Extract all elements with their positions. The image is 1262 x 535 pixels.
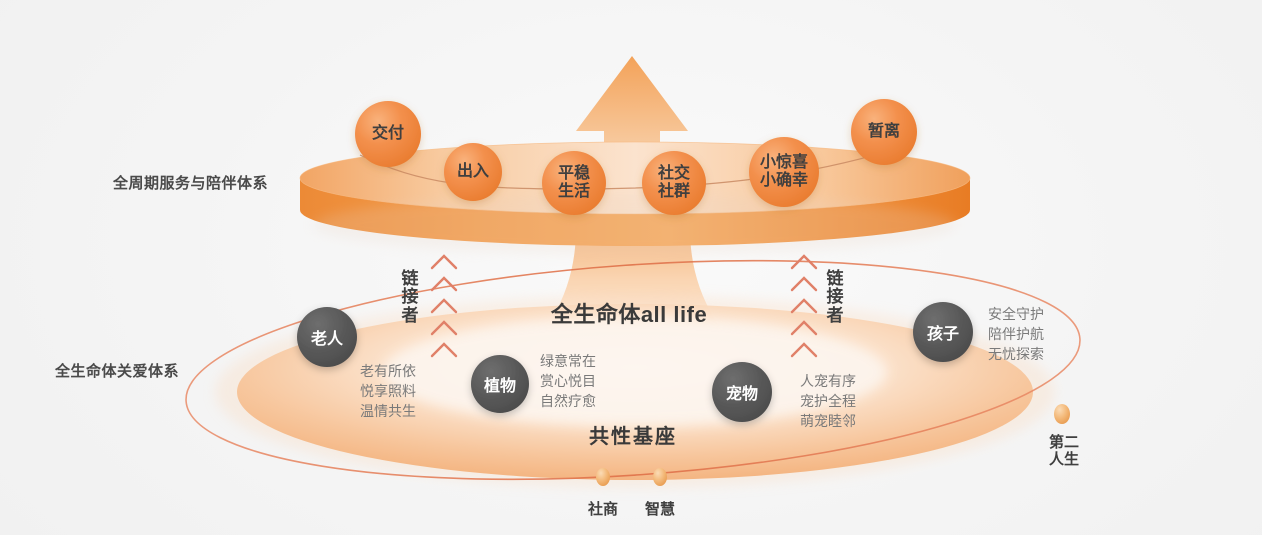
base-title: 共性基座: [589, 420, 677, 449]
description-plant: 绿意常在 赏心悦目 自然疗愈: [540, 352, 596, 412]
system-label-top: 全周期服务与陪伴体系: [113, 172, 268, 193]
connector-label-left: 链 接 者: [400, 270, 420, 325]
center-title: 全生命体all life: [551, 297, 707, 329]
system-label-bottom: 全生命体关爱体系: [55, 360, 179, 381]
node-circle-xiaojingxi[interactable]: [749, 137, 819, 207]
node-circle-haizi[interactable]: [913, 302, 973, 362]
base-dot-label-sheshang: 社商: [588, 498, 618, 519]
base-dot-label-zhihui: 智慧: [645, 498, 675, 519]
node-circle-jiaofu[interactable]: [355, 101, 421, 167]
node-circle-laoren[interactable]: [297, 307, 357, 367]
description-pet: 人宠有序 宠护全程 萌宠睦邻: [800, 372, 856, 432]
base-dot-sheshang[interactable]: [596, 468, 610, 486]
node-circle-pingwen[interactable]: [542, 151, 606, 215]
node-circle-zanli[interactable]: [851, 99, 917, 165]
infographic-canvas: 全周期服务与陪伴体系 全生命体关爱体系 交付 出入 平稳 生活 社交 社群 小惊…: [0, 0, 1262, 535]
orbit-dot[interactable]: [1054, 404, 1070, 424]
node-circle-shejiao[interactable]: [642, 151, 706, 215]
orbit-label-second-life: 第二 人生: [1049, 434, 1079, 469]
description-child: 安全守护 陪伴护航 无忧探索: [988, 305, 1044, 365]
node-circle-chongwu[interactable]: [712, 362, 772, 422]
node-circle-zhiwu[interactable]: [471, 355, 529, 413]
node-circle-churu[interactable]: [444, 143, 502, 201]
connector-label-right: 链 接 者: [825, 270, 845, 325]
description-elder: 老有所依 悦享照料 温情共生: [360, 362, 416, 422]
base-dot-zhihui[interactable]: [653, 468, 667, 486]
